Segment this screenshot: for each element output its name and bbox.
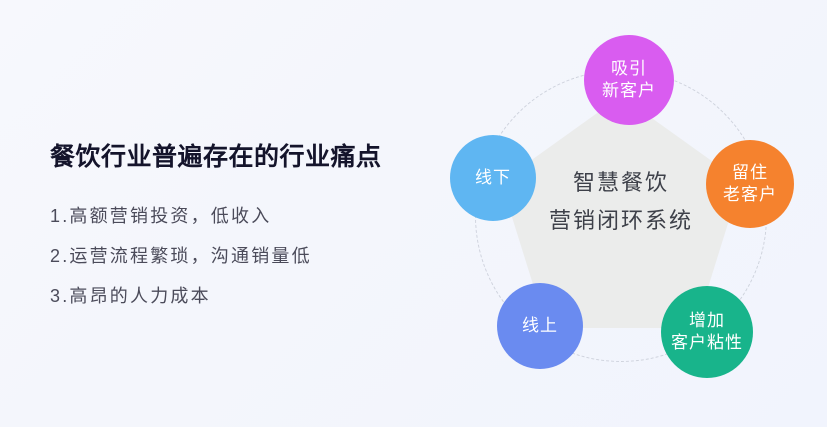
node-retain-old-customers[interactable]: 留住 老客户 — [706, 140, 794, 228]
node-label: 线上 — [522, 315, 558, 337]
center-label-line-2: 营销闭环系统 — [501, 202, 741, 240]
left-text-panel: 餐饮行业普遍存在的行业痛点 1.高额营销投资，低收入 2.运营流程繁琐，沟通销量… — [50, 140, 430, 316]
node-online[interactable]: 线上 — [497, 283, 583, 369]
slide-canvas: 餐饮行业普遍存在的行业痛点 1.高额营销投资，低收入 2.运营流程繁琐，沟通销量… — [0, 0, 827, 427]
node-offline[interactable]: 线下 — [450, 135, 536, 221]
node-increase-stickiness[interactable]: 增加 客户粘性 — [661, 286, 753, 378]
node-label: 线下 — [475, 167, 511, 189]
diagram-center-label: 智慧餐饮 营销闭环系统 — [501, 164, 741, 240]
list-item: 2.运营流程繁琐，沟通销量低 — [50, 236, 430, 276]
page-title: 餐饮行业普遍存在的行业痛点 — [50, 140, 430, 174]
pain-point-list: 1.高额营销投资，低收入 2.运营流程繁琐，沟通销量低 3.高昂的人力成本 — [50, 196, 430, 316]
node-label: 增加 客户粘性 — [671, 310, 743, 354]
list-item: 1.高额营销投资，低收入 — [50, 196, 430, 236]
node-attract-new-customers[interactable]: 吸引 新客户 — [584, 35, 674, 125]
closed-loop-diagram: 智慧餐饮 营销闭环系统 吸引 新客户 留住 老客户 增加 客户粘性 线上 线下 — [430, 16, 827, 416]
center-label-line-1: 智慧餐饮 — [501, 164, 741, 202]
node-label: 留住 老客户 — [723, 162, 777, 206]
node-label: 吸引 新客户 — [602, 58, 656, 102]
list-item: 3.高昂的人力成本 — [50, 276, 430, 316]
